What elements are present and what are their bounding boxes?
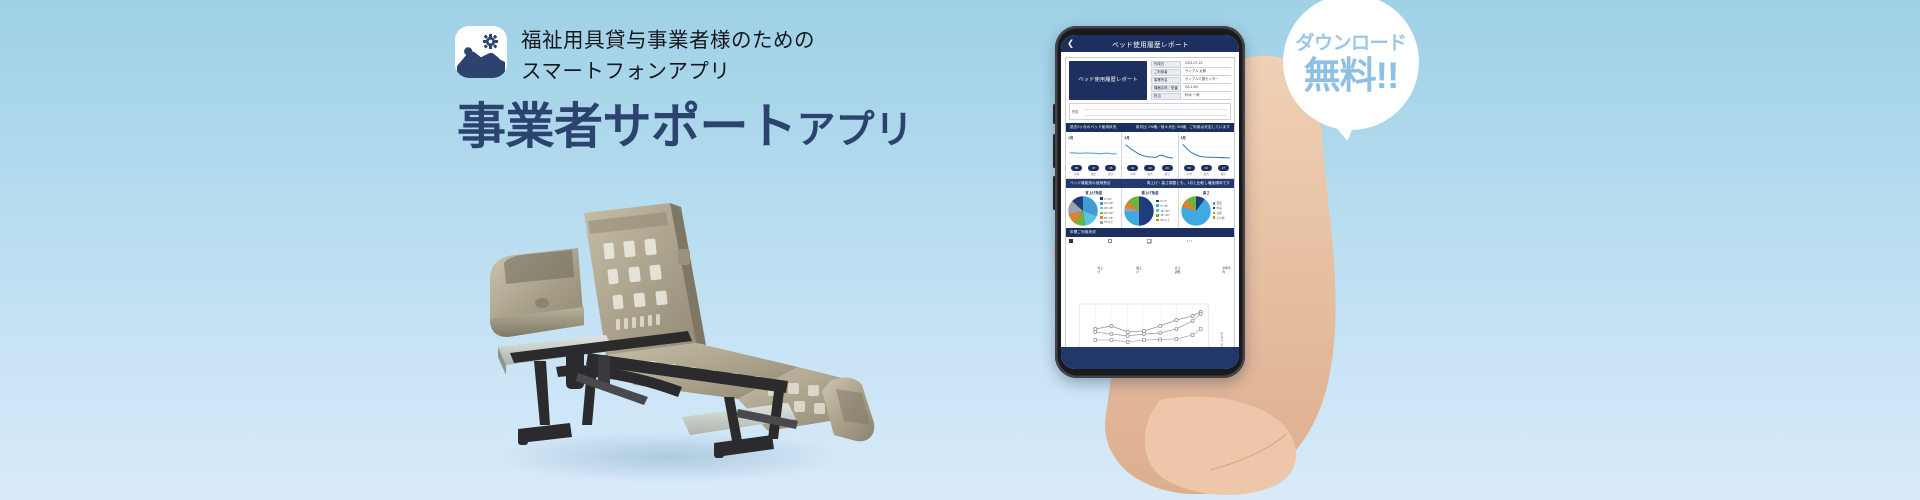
meta-value: 2021-07-15: [1183, 61, 1231, 68]
mini-chart-caption: 3月: [1181, 135, 1232, 140]
pill: 58 平均: [1184, 165, 1195, 176]
band-label: 過去3ヶ月のベッド使用状況: [1070, 125, 1116, 130]
trend-legend: 背上げ 膝上げ 高さ調整 全体平均: [1069, 239, 1231, 301]
pill-value: 85: [1071, 165, 1082, 171]
report-meta-table: 作成日 2021-07-15 ご利用者 サンプル 太郎 事業所名 サンプル介護セ…: [1151, 61, 1231, 100]
meta-key: 機器名称／型番: [1151, 85, 1181, 92]
app-bottom-bar: [1061, 347, 1239, 369]
report-note-label: 所見: [1072, 109, 1078, 114]
section-band-breakdown: ベッド機能別の使用割合 背上げ・高さ調整とも、1月と比較し増加傾向です: [1066, 179, 1234, 188]
legend-item: 全体平均: [1187, 239, 1231, 301]
report-scroll-area[interactable]: ベッド使用履歴レポート 作成日 2021-07-15 ご利用者 サンプル 太郎: [1061, 52, 1239, 347]
pie-svg: [1068, 196, 1098, 226]
section-band-trend: 年間ご利用状況: [1066, 228, 1234, 237]
lede-line-1: 福祉用具貸与事業者様のための: [521, 25, 815, 56]
meta-key: 担当: [1151, 93, 1181, 100]
headline-main: 事業者サポート: [457, 100, 797, 154]
band-note: 背上げ・高さ調整とも、1月と比較し増加傾向です: [1147, 181, 1230, 186]
report-sheet: ベッド使用履歴レポート 作成日 2021-07-15 ご利用者 サンプル 太郎: [1065, 57, 1235, 347]
pill-label: 平均: [1071, 172, 1082, 176]
mini-chart-pills: 61 平均 43 最大 29 最小: [1124, 165, 1175, 176]
phone-button-volume-down[interactable]: [1053, 176, 1056, 210]
pill-label: 最大: [1088, 172, 1099, 176]
pie-chart-2: 膝上げ角度: [1122, 188, 1178, 228]
pie-svg: [1124, 196, 1154, 226]
legend-item: 膝上げ: [1108, 239, 1143, 301]
report-header: ベッド使用履歴レポート 作成日 2021-07-15 ご利用者 サンプル 太郎: [1066, 58, 1234, 103]
legend-item: 10～15°: [1156, 209, 1169, 213]
pie-caption: 背上げ角度: [1068, 190, 1119, 195]
pill-label: 平均: [1127, 172, 1138, 176]
pill-value: 40: [1201, 165, 1212, 171]
pie-chart-3: 高さ: [1179, 188, 1234, 228]
pie-chart-1: 背上げ角度: [1066, 188, 1122, 228]
pill-value: 29: [1162, 165, 1173, 171]
note-line: [1084, 113, 1227, 116]
pill: 38 最小: [1105, 165, 1116, 176]
meta-key: ご利用者: [1151, 69, 1181, 76]
legend-item: 0～5°: [1156, 199, 1169, 203]
download-free-badge: ダウンロード 無料!!: [1283, 0, 1419, 130]
headline-suffix: アプリ: [797, 109, 914, 152]
pill-label: 最小: [1162, 172, 1173, 176]
legend-item: 5～10°: [1156, 204, 1169, 208]
meta-value: KA-1 6N: [1183, 85, 1231, 92]
pill-label: 最大: [1144, 172, 1155, 176]
mini-chart-caption: 1月: [1068, 135, 1119, 140]
table-row: 担当 鈴木 一郎: [1151, 93, 1231, 100]
legend-item: 高さ調整: [1147, 239, 1183, 301]
note-line: [1084, 107, 1227, 110]
pie-caption: 高さ: [1181, 190, 1232, 195]
app-bar-title: ベッド使用履歴レポート: [1071, 39, 1230, 49]
mini-line-chart: [1124, 141, 1175, 163]
pill: 61 平均: [1127, 165, 1138, 176]
meta-value: サンプル介護センター: [1183, 77, 1231, 84]
band-label: ベッド機能別の使用割合: [1070, 181, 1111, 186]
pill-value: 43: [1144, 165, 1155, 171]
band-note: 前月比 1%増／前々月比 3%増、ご利用は安定しています: [1136, 125, 1230, 130]
mini-chart-2: 2月 61 平均: [1122, 132, 1178, 178]
electric-care-bed-photo: [438, 185, 878, 485]
legend-item: 高床: [1213, 211, 1225, 215]
pill-label: 最大: [1201, 172, 1212, 176]
care-bed-app-icon: [455, 26, 507, 78]
mini-chart-row: 1月 85 平均: [1066, 132, 1234, 179]
badge-bubble: ダウンロード 無料!!: [1283, 0, 1419, 130]
pill: 40 最大: [1201, 165, 1212, 176]
mini-line-chart: [1068, 141, 1119, 163]
pill-value: 38: [1105, 165, 1116, 171]
pill-label: 最小: [1218, 172, 1229, 176]
section-band-usage: 過去3ヶ月のベッド使用状況 前月比 1%増／前々月比 3%増、ご利用は安定してい…: [1066, 123, 1234, 132]
pill: 43 最大: [1144, 165, 1155, 176]
meta-value: 鈴木 一郎: [1183, 93, 1231, 100]
pill: 29 最小: [1162, 165, 1173, 176]
trend-line-chart: 背上げ 膝上げ 高さ調整 全体平均: [1066, 237, 1234, 348]
table-row: 事業所名 サンプル介護センター: [1151, 77, 1231, 84]
legend-item: 0～15°: [1100, 197, 1113, 201]
pill-value: 47: [1088, 165, 1099, 171]
legend-item: 45～60°: [1100, 211, 1113, 215]
pill: 47 最大: [1088, 165, 1099, 176]
phone-scene: ❮ ベッド使用履歴レポート ベッド使用履歴レポート 作成日 2021-07-15: [1010, 0, 1530, 500]
band-label: 年間ご利用状況: [1070, 230, 1096, 235]
legend-item: 低床: [1213, 201, 1225, 205]
pill: 27 最小: [1218, 165, 1229, 176]
phone-screen: ❮ ベッド使用履歴レポート ベッド使用履歴レポート 作成日 2021-07-15: [1061, 35, 1239, 369]
smartphone-device: ❮ ベッド使用履歴レポート ベッド使用履歴レポート 作成日 2021-07-15: [1055, 26, 1245, 378]
legend-item: 20°以上: [1156, 218, 1169, 222]
pill: 85 平均: [1071, 165, 1082, 176]
svg-text:使用時間（時間）: 使用時間（時間）: [1220, 332, 1224, 348]
page-title: 事業者サポートアプリ: [457, 98, 935, 160]
pie-svg: [1181, 196, 1211, 226]
legend-item: 15～20°: [1156, 213, 1169, 217]
pie-legend: 低床 中床 高床 その他: [1213, 201, 1225, 219]
table-row: 作成日 2021-07-15: [1151, 61, 1231, 68]
hero-copy-block: 福祉用具貸与事業者様のための スマートフォンアプリ 事業者サポートアプリ: [455, 24, 935, 160]
table-row: ご利用者 サンプル 太郎: [1151, 69, 1231, 76]
pill-label: 平均: [1184, 172, 1195, 176]
legend-item: 30～45°: [1100, 206, 1113, 210]
mini-chart-3: 3月 58 平均: [1179, 132, 1234, 178]
phone-button-volume-up[interactable]: [1053, 134, 1056, 168]
legend-item: 60～75°: [1100, 216, 1113, 220]
pill-value: 58: [1184, 165, 1195, 171]
lede-text: 福祉用具貸与事業者様のための スマートフォンアプリ: [521, 24, 815, 87]
mini-chart-pills: 85 平均 47 最大 38 最小: [1068, 165, 1119, 176]
badge-line-1: ダウンロード: [1295, 34, 1406, 53]
pie-chart-row: 背上げ角度: [1066, 188, 1234, 228]
pill-label: 最小: [1105, 172, 1116, 176]
pie-legend: 0～5° 5～10° 10～15° 15～20° 20°以上: [1156, 199, 1169, 222]
report-note-box: 所見: [1069, 103, 1231, 120]
badge-line-2: 無料!!: [1304, 57, 1399, 94]
lede-line-2: スマートフォンアプリ: [521, 56, 815, 87]
pill-value: 61: [1127, 165, 1138, 171]
pie-caption: 膝上げ角度: [1124, 190, 1175, 195]
hero-banner: 福祉用具貸与事業者様のための スマートフォンアプリ 事業者サポートアプリ: [0, 0, 1920, 500]
app-bar: ❮ ベッド使用履歴レポート: [1061, 35, 1239, 52]
lede-row: 福祉用具貸与事業者様のための スマートフォンアプリ: [455, 24, 935, 87]
meta-key: 事業所名: [1151, 77, 1181, 84]
mini-chart-1: 1月 85 平均: [1066, 132, 1122, 178]
phone-button-mute[interactable]: [1053, 104, 1056, 124]
table-row: 機器名称／型番 KA-1 6N: [1151, 85, 1231, 92]
meta-value: サンプル 太郎: [1183, 69, 1231, 76]
report-title: ベッド使用履歴レポート: [1069, 61, 1147, 100]
pill-value: 27: [1218, 165, 1229, 171]
pie-legend: 0～15° 15～30° 30～45° 45～60° 60～75° 75°以上: [1100, 197, 1113, 225]
mini-chart-pills: 58 平均 40 最大 27 最小: [1181, 165, 1232, 176]
trend-chart-svg: 4月5月6月 7月8月9月 10月11月 使用時間（時間）: [1069, 302, 1231, 348]
legend-item: 75°以上: [1100, 220, 1113, 224]
legend-item: 中床: [1213, 206, 1225, 210]
legend-item: その他: [1213, 216, 1225, 220]
legend-item: 背上げ: [1069, 239, 1104, 301]
legend-item: 15～30°: [1100, 201, 1113, 205]
mini-chart-caption: 2月: [1124, 135, 1175, 140]
meta-key: 作成日: [1151, 61, 1181, 68]
mini-line-chart: [1181, 141, 1232, 163]
